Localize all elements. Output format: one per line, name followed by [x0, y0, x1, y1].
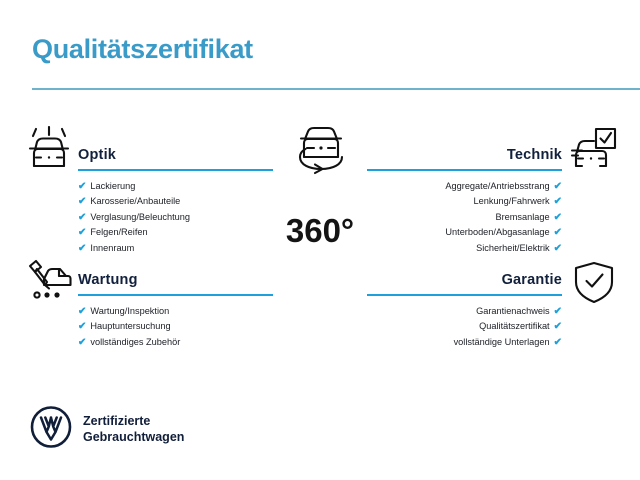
list-item-label: Aggregate/Antriebsstrang [445, 181, 549, 191]
header-divider [32, 88, 640, 90]
car-shine-icon [24, 126, 74, 177]
vw-certified-label: Zertifizierte Gebrauchtwagen [83, 414, 184, 445]
checklist-wartung: ✔Wartung/Inspektion ✔Hauptuntersuchung ✔… [78, 304, 273, 350]
check-icon: ✔ [78, 306, 86, 317]
car-service-pen-icon [24, 258, 74, 309]
list-item-label: Wartung/Inspektion [90, 306, 169, 316]
shield-check-icon [572, 260, 616, 309]
list-item-label: Lenkung/Fahrwerk [474, 196, 550, 206]
check-icon: ✔ [554, 212, 562, 223]
checklist-garantie: Garantienachweis✔ Qualitätszertifikat✔ v… [367, 304, 562, 350]
list-item-label: Garantienachweis [476, 306, 550, 316]
check-icon: ✔ [78, 321, 86, 332]
check-icon: ✔ [554, 321, 562, 332]
check-icon: ✔ [78, 337, 86, 348]
list-item-label: Verglasung/Beleuchtung [90, 212, 190, 222]
list-item-label: Lackierung [90, 181, 135, 191]
car-checkbox-icon [568, 126, 618, 177]
list-item-label: Bremsanlage [495, 212, 549, 222]
check-icon: ✔ [554, 227, 562, 238]
qualitaetszertifikat-page: Qualitätszertifikat [0, 0, 640, 480]
vw-logo-icon [30, 406, 72, 453]
list-item-label: Innenraum [90, 243, 134, 253]
list-item-label: Karosserie/Anbauteile [90, 196, 180, 206]
list-item-label: Qualitätszertifikat [479, 321, 549, 331]
badge-center-label: 360° [286, 212, 354, 249]
check-icon: ✔ [78, 181, 86, 192]
check-icon: ✔ [78, 212, 86, 223]
list-item: ✔vollständiges Zubehör [78, 335, 273, 350]
check-icon: ✔ [78, 196, 86, 207]
list-item-label: Unterboden/Abgasanlage [445, 227, 549, 237]
check-icon: ✔ [78, 227, 86, 238]
car-rotate-icon [285, 122, 357, 180]
check-icon: ✔ [554, 181, 562, 192]
check-icon: ✔ [554, 196, 562, 207]
list-item-label: Hauptuntersuchung [90, 321, 170, 331]
check-icon: ✔ [554, 337, 562, 348]
list-item: vollständige Unterlagen✔ [367, 335, 562, 350]
check-icon: ✔ [554, 243, 562, 254]
list-item-label: Felgen/Reifen [90, 227, 147, 237]
list-item: Qualitätszertifikat✔ [367, 319, 562, 334]
vw-certified-logo: Zertifizierte Gebrauchtwagen [30, 406, 184, 453]
list-item-label: vollständige Unterlagen [454, 337, 550, 347]
list-item-label: vollständiges Zubehör [90, 337, 180, 347]
check-icon: ✔ [554, 306, 562, 317]
check-icon: ✔ [78, 243, 86, 254]
list-item-label: Sicherheit/Elektrik [476, 243, 550, 253]
list-item: ✔Hauptuntersuchung [78, 319, 273, 334]
page-title: Qualitätszertifikat [32, 34, 253, 65]
